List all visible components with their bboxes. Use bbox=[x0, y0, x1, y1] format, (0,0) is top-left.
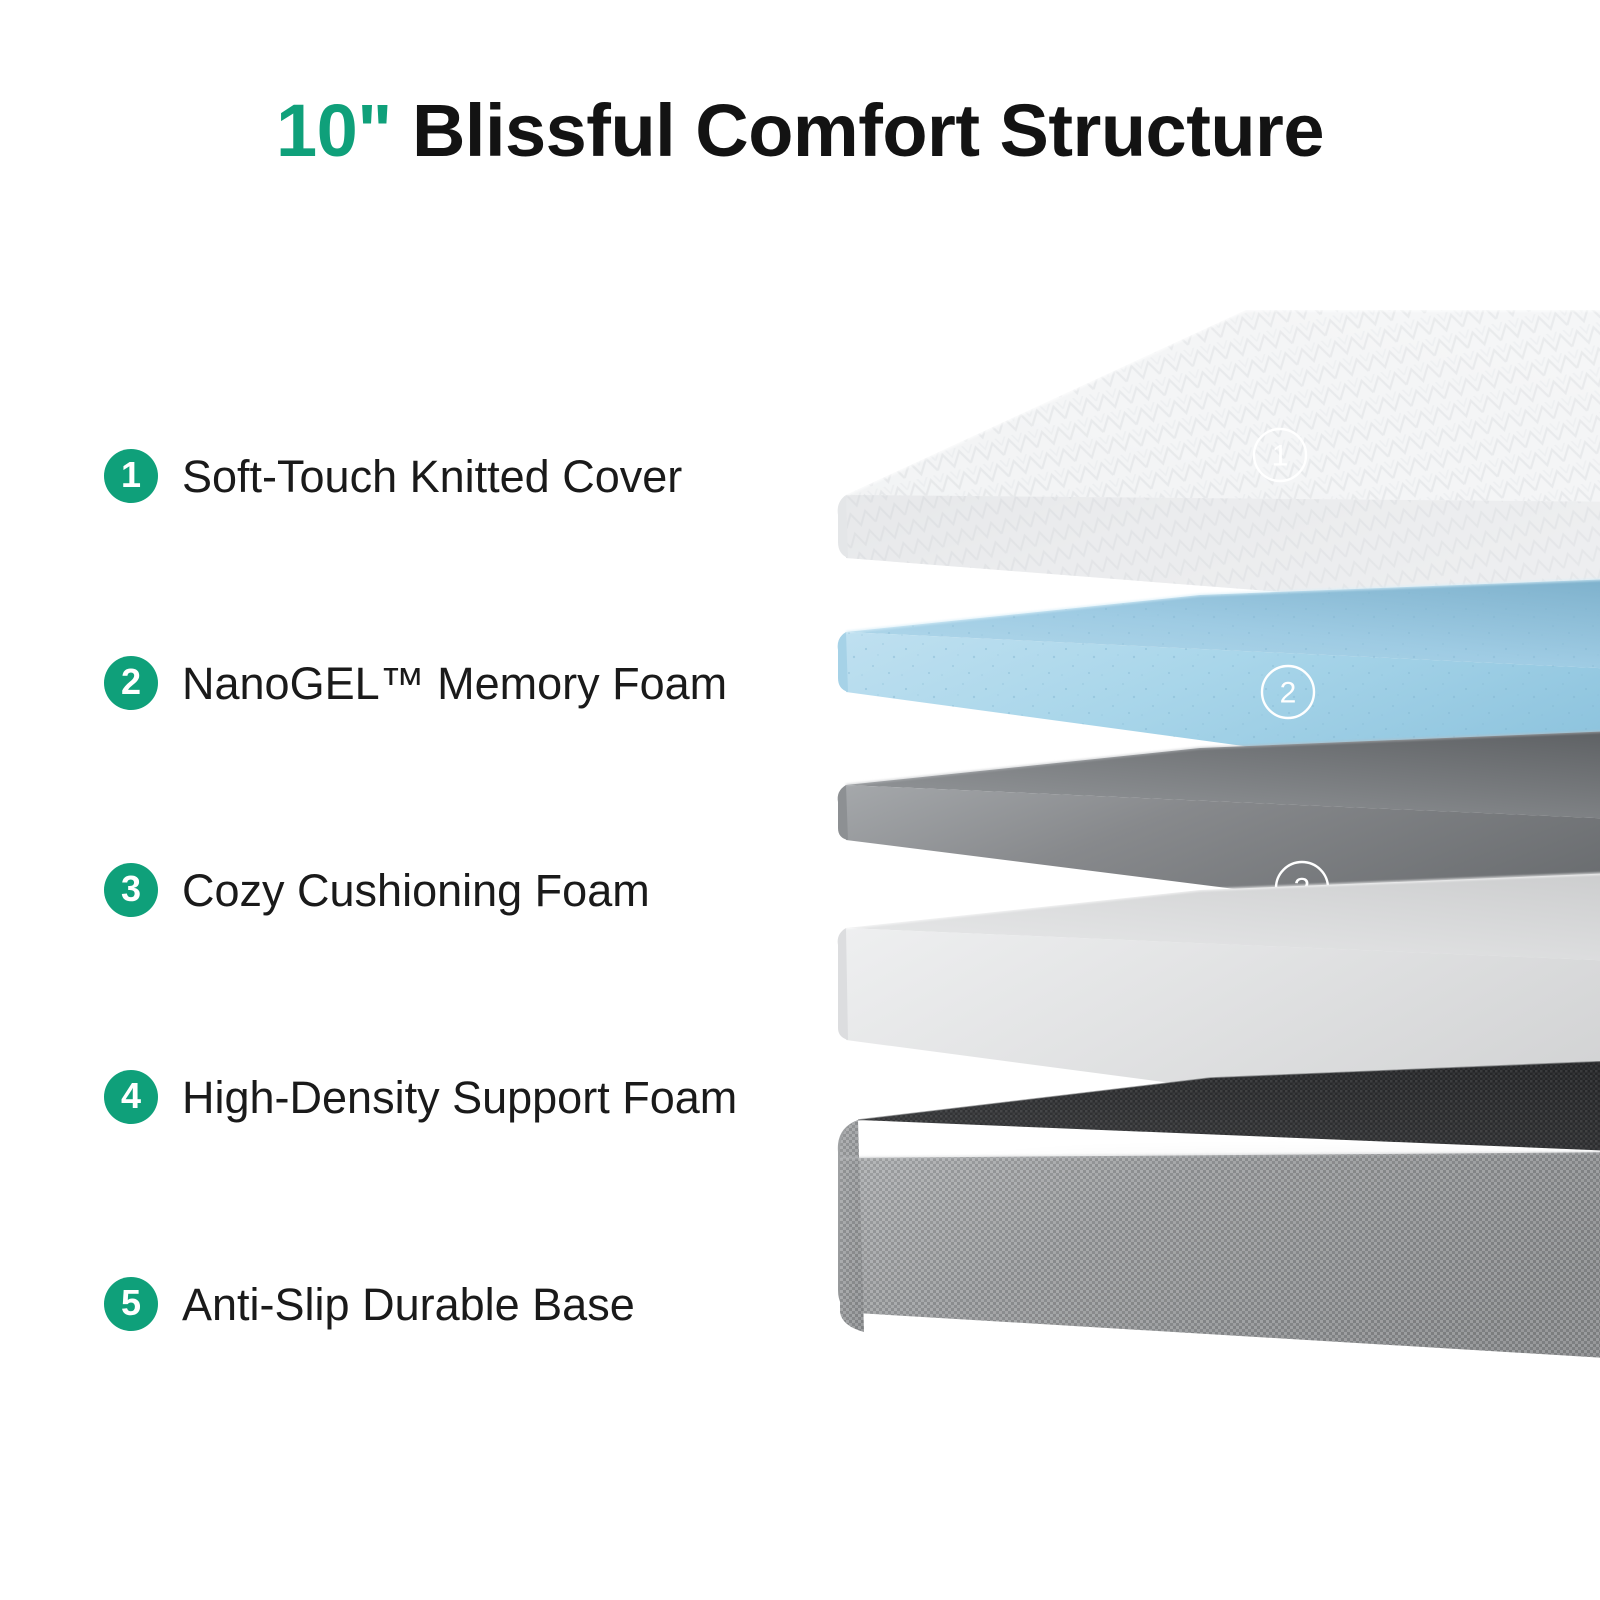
list-item: 2 NanoGEL™ Memory Foam bbox=[104, 635, 804, 731]
list-item: 5 Anti-Slip Durable Base bbox=[104, 1256, 804, 1352]
legend-label-5: Anti-Slip Durable Base bbox=[182, 1282, 635, 1327]
layer-badge-2-number: 2 bbox=[1280, 677, 1297, 710]
legend-label-4: High-Density Support Foam bbox=[182, 1075, 737, 1120]
title-main: Blissful Comfort Structure bbox=[412, 89, 1324, 172]
legend-badge-5: 5 bbox=[104, 1277, 158, 1331]
legend-label-1: Soft-Touch Knitted Cover bbox=[182, 454, 682, 499]
layer-badge-5-number: 5 bbox=[1291, 1429, 1308, 1462]
layer-legend-list: 1 Soft-Touch Knitted Cover 2 NanoGEL™ Me… bbox=[104, 428, 804, 1352]
list-item: 3 Cozy Cushioning Foam bbox=[104, 842, 804, 938]
page-title: 10" Blissful Comfort Structure bbox=[0, 92, 1600, 170]
list-item: 4 High-Density Support Foam bbox=[104, 1049, 804, 1145]
layer-badge-1-number: 1 bbox=[1272, 440, 1289, 473]
title-rest bbox=[392, 89, 412, 172]
list-item: 1 Soft-Touch Knitted Cover bbox=[104, 428, 804, 524]
title-measurement: 10" bbox=[276, 89, 392, 172]
legend-badge-4: 4 bbox=[104, 1070, 158, 1124]
layer-badge-5: 5 bbox=[1273, 1418, 1325, 1470]
mattress-layer-1-soft-touch-knitted-cover: 1 bbox=[838, 310, 1600, 620]
layer-5-front-texture bbox=[840, 1152, 1600, 1360]
infographic-canvas: 10" Blissful Comfort Structure 1 Soft-To… bbox=[0, 0, 1600, 1600]
layer-5-corner-texture bbox=[840, 1120, 864, 1332]
layer-1-top-texture bbox=[846, 310, 1600, 502]
legend-badge-2: 2 bbox=[104, 656, 158, 710]
legend-label-3: Cozy Cushioning Foam bbox=[182, 868, 650, 913]
mattress-layers-illustration: 1 2 bbox=[780, 240, 1600, 1580]
mattress-layer-5-anti-slip-durable-base: 5 bbox=[838, 1060, 1600, 1470]
legend-badge-3: 3 bbox=[104, 863, 158, 917]
legend-badge-1: 1 bbox=[104, 449, 158, 503]
legend-label-2: NanoGEL™ Memory Foam bbox=[182, 661, 727, 706]
